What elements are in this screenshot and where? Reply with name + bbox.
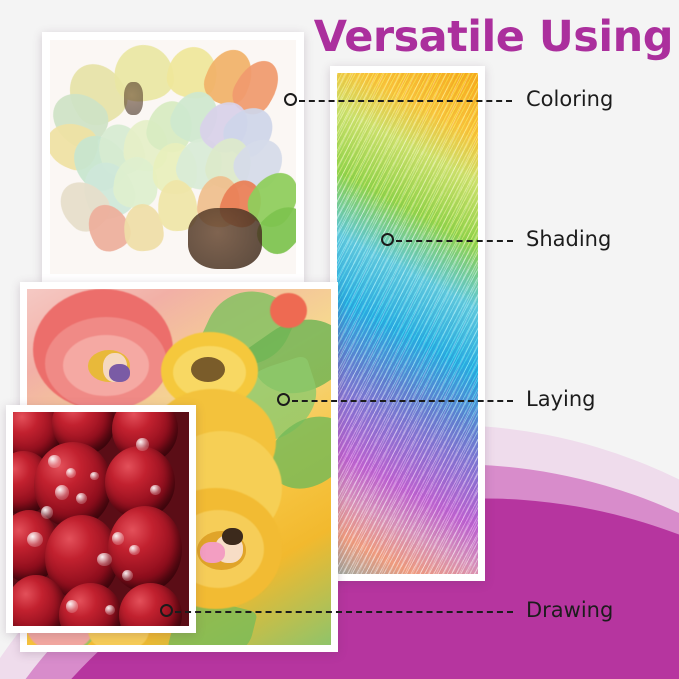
baby-figure (200, 542, 224, 563)
water-droplet (136, 438, 148, 451)
pencil-grain-texture (337, 73, 478, 574)
photo-card-swatch[interactable] (330, 66, 485, 581)
baby-figure (109, 364, 130, 382)
water-droplet (129, 545, 140, 556)
water-droplet (55, 485, 69, 500)
photo-card-succulent[interactable] (42, 32, 304, 282)
callout-marker-drawing[interactable] (160, 604, 173, 617)
callout-line-laying (292, 400, 513, 402)
callout-line-shading (396, 240, 513, 242)
water-droplet (150, 485, 161, 496)
rainbow-swatch-artwork (337, 73, 478, 574)
succulent-soil (188, 208, 262, 269)
water-droplet (48, 455, 60, 468)
grapes-artwork (13, 412, 189, 626)
page-title: Versatile Using (314, 12, 673, 62)
photo-card-grapes[interactable] (6, 405, 196, 633)
succulent-artwork (50, 40, 296, 274)
callout-marker-coloring[interactable] (284, 93, 297, 106)
succulent-soil (124, 82, 144, 115)
callout-marker-laying[interactable] (277, 393, 290, 406)
water-droplet (112, 532, 124, 545)
callout-line-coloring (299, 100, 512, 102)
water-droplet (27, 532, 43, 547)
water-droplet (122, 570, 133, 581)
callout-label-laying: Laying (526, 387, 595, 411)
callout-label-coloring: Coloring (526, 87, 613, 111)
poster-canvas: Versatile Using (0, 0, 679, 679)
rainbow-gradient (337, 73, 478, 574)
baby-figure (222, 528, 243, 546)
yellow-poppy-center (191, 357, 224, 382)
grape (108, 506, 182, 592)
red-bud (270, 293, 306, 329)
callout-marker-shading[interactable] (381, 233, 394, 246)
callout-label-drawing: Drawing (526, 598, 613, 622)
callout-label-shading: Shading (526, 227, 611, 251)
callout-line-drawing (175, 611, 513, 613)
water-droplet (97, 553, 111, 566)
water-droplet (76, 493, 87, 504)
